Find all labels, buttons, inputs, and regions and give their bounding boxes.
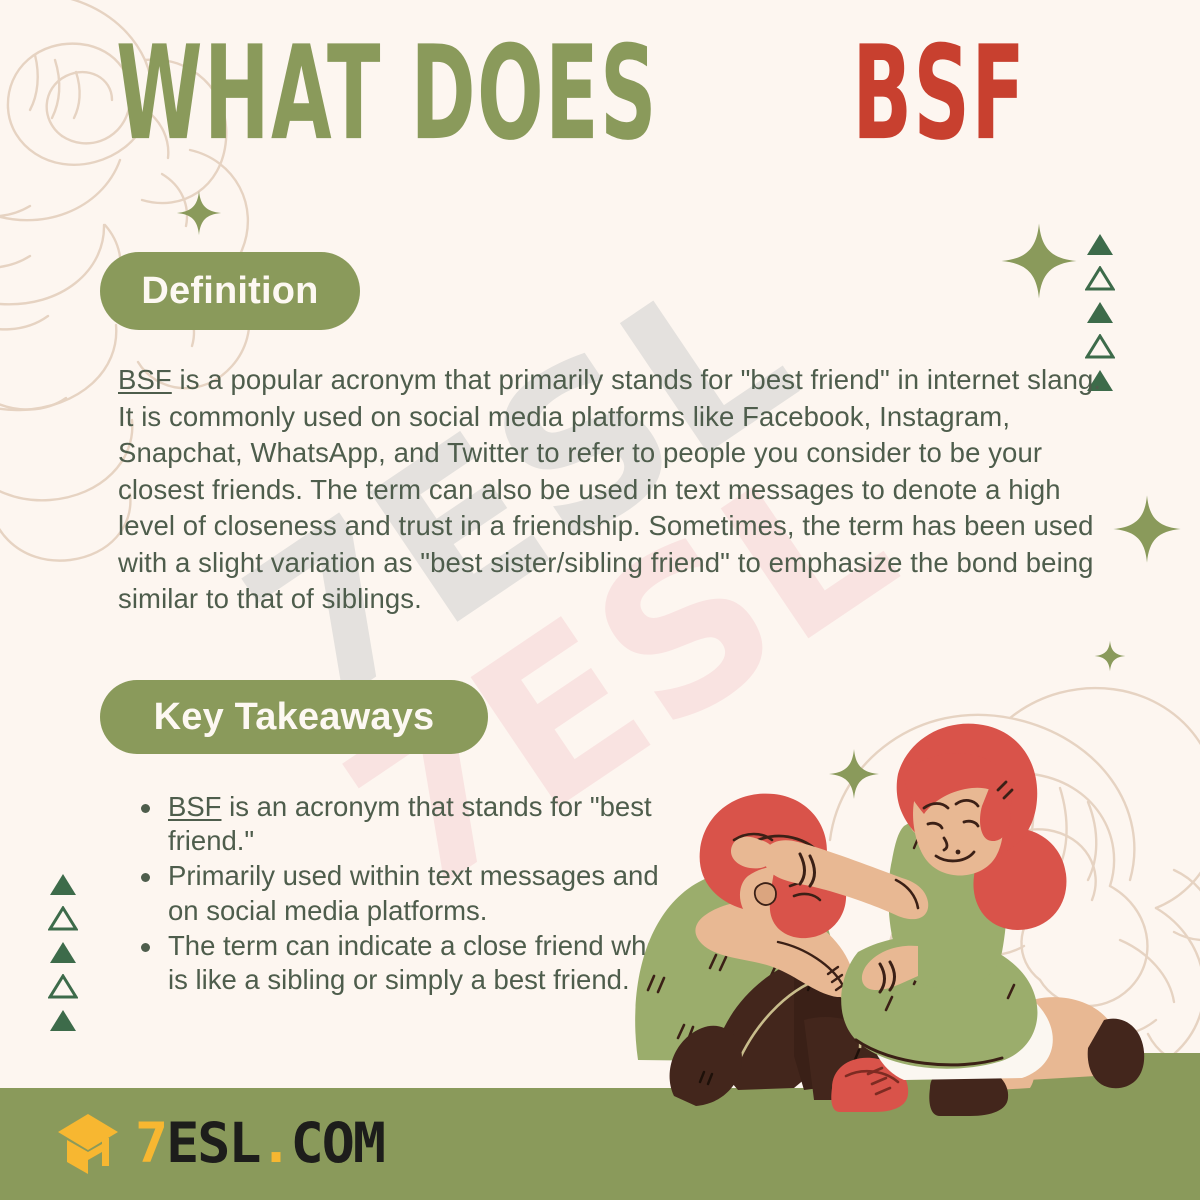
triangle-filled-icon bbox=[48, 872, 78, 897]
logo-esl: ESL bbox=[166, 1111, 259, 1175]
logo-dot: . bbox=[259, 1111, 290, 1175]
triangle-outline-icon bbox=[48, 906, 78, 931]
list-item: Primarily used within text messages and … bbox=[130, 859, 670, 927]
takeaways-badge-label: Key Takeaways bbox=[154, 696, 435, 739]
definition-text: is a popular acronym that primarily stan… bbox=[118, 364, 1101, 614]
sparkle-icon bbox=[1000, 222, 1078, 300]
definition-badge-label: Definition bbox=[141, 270, 318, 313]
takeaway-term: BSF bbox=[168, 791, 221, 822]
sparkle-icon bbox=[1112, 494, 1182, 564]
definition-badge: Definition bbox=[100, 252, 360, 330]
sparkle-icon bbox=[1094, 640, 1126, 672]
takeaways-list: BSF is an acronym that stands for "best … bbox=[130, 790, 670, 998]
takeaway-text: The term can indicate a close friend who… bbox=[168, 930, 662, 995]
title-highlight-bsf: BSF bbox=[852, 29, 1026, 159]
triangle-outline-icon bbox=[1085, 266, 1115, 291]
definition-term: BSF bbox=[118, 364, 172, 395]
triangle-outline-icon bbox=[1085, 334, 1115, 359]
graduation-cap-icon bbox=[55, 1110, 121, 1176]
triangle-decoration-left bbox=[48, 872, 78, 1033]
takeaway-text: Primarily used within text messages and … bbox=[168, 860, 659, 925]
title-part-1: WHAT DOES bbox=[116, 29, 658, 159]
sparkle-icon bbox=[176, 190, 222, 236]
list-item: BSF is an acronym that stands for "best … bbox=[130, 790, 670, 858]
logo-com: COM bbox=[291, 1111, 384, 1175]
triangle-outline-icon bbox=[48, 974, 78, 999]
takeaway-text: is an acronym that stands for "best frie… bbox=[168, 791, 652, 856]
logo-wordmark: 7ESL.COM bbox=[135, 1116, 384, 1171]
infographic-canvas: 7ESL 7ESL WHAT DOES BSF STAND FOR? bbox=[0, 0, 1200, 1200]
illustration-two-friends bbox=[618, 690, 1200, 1130]
triangle-filled-icon bbox=[48, 940, 78, 965]
site-logo[interactable]: 7ESL.COM bbox=[55, 1106, 384, 1180]
triangle-filled-icon bbox=[1085, 300, 1115, 325]
takeaways-badge: Key Takeaways bbox=[100, 680, 488, 754]
triangle-filled-icon bbox=[48, 1008, 78, 1033]
triangle-filled-icon bbox=[1085, 232, 1115, 257]
page-title: WHAT DOES BSF STAND FOR? bbox=[0, 38, 1200, 150]
logo-seven: 7 bbox=[135, 1111, 166, 1175]
list-item: The term can indicate a close friend who… bbox=[130, 929, 670, 997]
definition-paragraph: BSF is a popular acronym that primarily … bbox=[118, 362, 1103, 618]
